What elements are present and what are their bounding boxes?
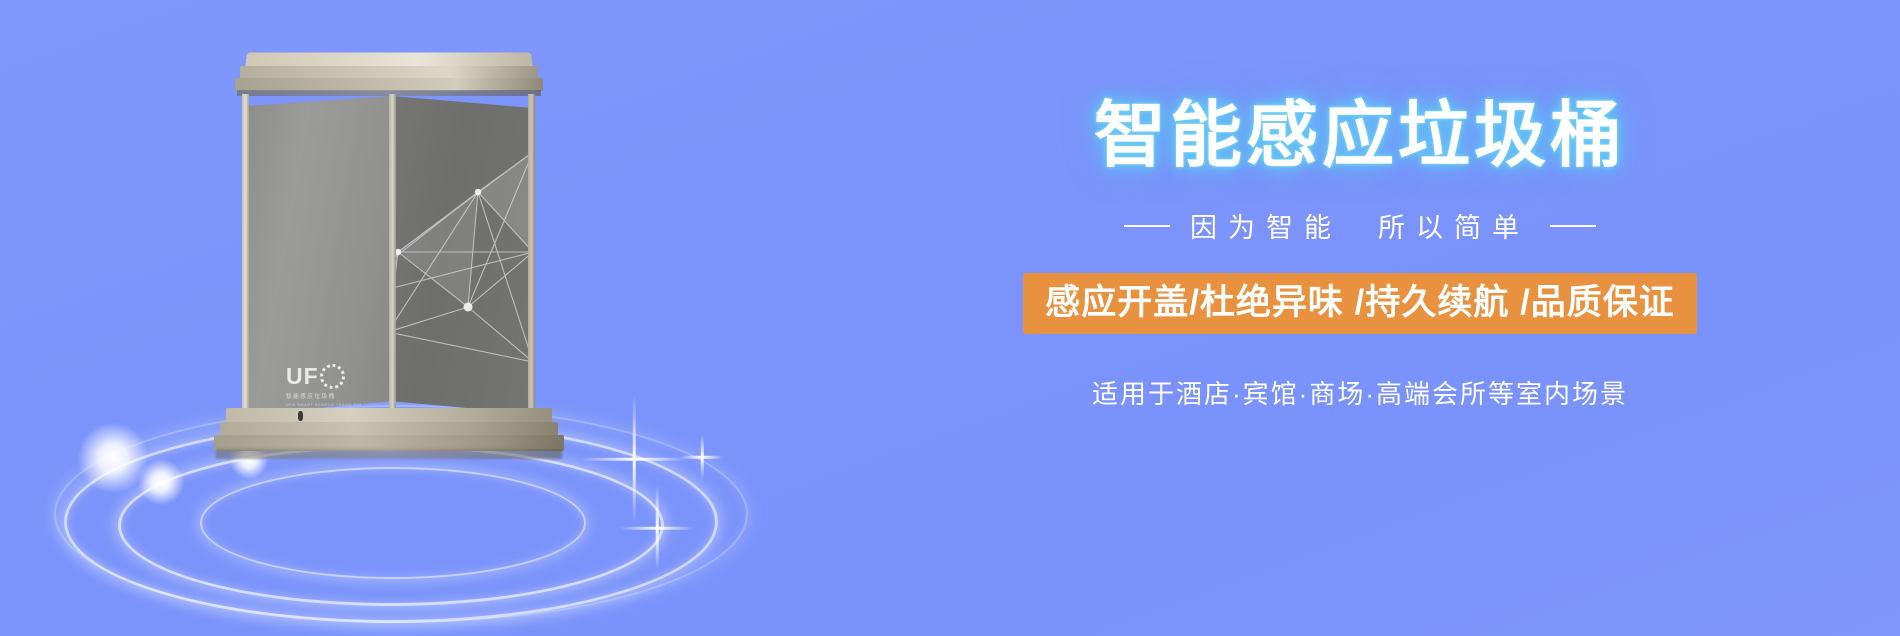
dash-rule-left: [1124, 225, 1170, 227]
polygon-network-graphic: [392, 132, 532, 382]
ripple-ring-3: [200, 467, 586, 579]
logo-tagline-sub: UFO SMART SENSOR TRASH BIN: [286, 403, 368, 407]
glow-dot-icon: [138, 459, 184, 505]
feature-bar-wrap: 感应开盖/杜绝异味 /持久续航 /品质保证: [880, 245, 1840, 334]
logo-circle-o-icon: [320, 364, 345, 389]
sparkle-star-icon: [620, 485, 694, 571]
logo-tagline-cn: 智能感应垃圾桶: [286, 392, 368, 400]
bin-base-shadow: [216, 449, 562, 459]
bin-panel-right: [392, 96, 532, 414]
feature-highlight-bar: 感应开盖/杜绝异味 /持久续航 /品质保证: [1023, 273, 1697, 334]
dash-rule-right: [1550, 225, 1596, 227]
logo-wordmark-text: UF: [286, 365, 319, 388]
subtitle-right: 所以简单: [1378, 206, 1530, 245]
sparkle-star-icon: [680, 435, 724, 479]
trash-bin-product: UF 智能感应垃圾桶 UFO SMART SENSOR TRASH BIN: [232, 52, 546, 452]
bin-edge-post-right: [528, 94, 535, 416]
ir-sensor-icon: [298, 411, 303, 421]
usage-scene-text: 适用于酒店·宾馆·商场·高端会所等室内场景: [880, 374, 1840, 411]
subtitle-row: 因为智能 所以简单: [880, 206, 1840, 245]
promo-banner: UF 智能感应垃圾桶 UFO SMART SENSOR TRASH BIN 智能…: [0, 0, 1900, 636]
subtitle-left: 因为智能: [1190, 206, 1342, 245]
bin-base-plinth: [232, 408, 546, 466]
bin-edge-post-center: [389, 94, 396, 416]
page-title: 智能感应垃圾桶: [880, 100, 1840, 172]
logo-wordmark: UF: [286, 364, 368, 389]
product-stage: UF 智能感应垃圾桶 UFO SMART SENSOR TRASH BIN: [60, 0, 800, 636]
bin-edge-post-left: [242, 94, 249, 416]
promo-copy-block: 智能感应垃圾桶 因为智能 所以简单 感应开盖/杜绝异味 /持久续航 /品质保证 …: [880, 100, 1840, 411]
bin-lid: [232, 52, 546, 98]
bin-body: UF 智能感应垃圾桶 UFO SMART SENSOR TRASH BIN: [246, 96, 532, 414]
